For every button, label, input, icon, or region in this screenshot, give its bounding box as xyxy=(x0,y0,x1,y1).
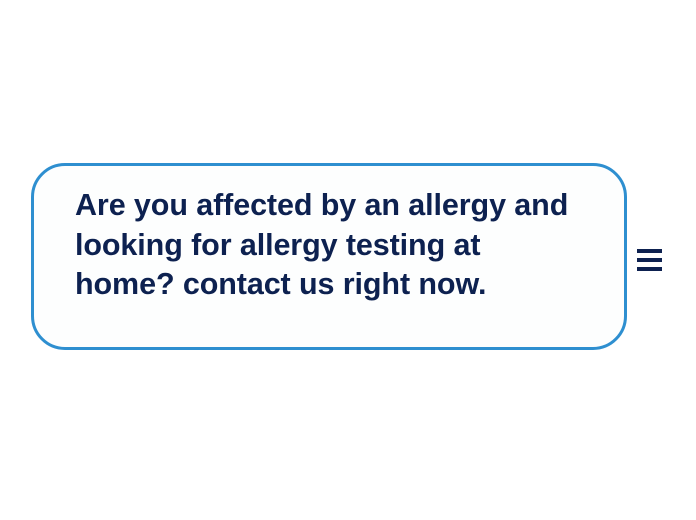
page-root: Are you affected by an allergy and looki… xyxy=(0,0,696,520)
promo-banner-headline: Are you affected by an allergy and looki… xyxy=(75,186,595,305)
hamburger-bar-middle xyxy=(637,258,662,262)
promo-banner-card: Are you affected by an allergy and looki… xyxy=(31,163,627,350)
hamburger-bar-bottom xyxy=(637,267,662,271)
hamburger-menu-icon[interactable] xyxy=(637,245,663,275)
hamburger-bar-top xyxy=(637,249,662,253)
